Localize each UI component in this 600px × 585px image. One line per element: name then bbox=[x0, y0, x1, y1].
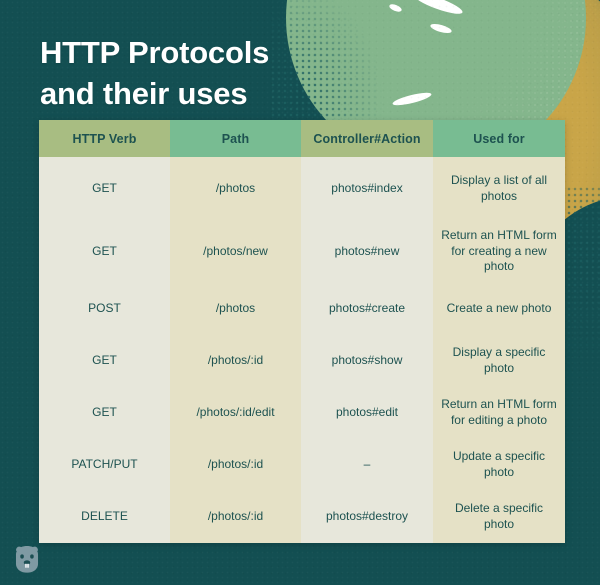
table-row: DELETE /photos/:id photos#destroy Delete… bbox=[39, 491, 565, 543]
cell-action: – bbox=[301, 439, 433, 491]
cell-action: photos#edit bbox=[301, 387, 433, 439]
cell-action: photos#show bbox=[301, 335, 433, 387]
table-row: GET /photos/new photos#new Return an HTM… bbox=[39, 220, 565, 283]
table-row: GET /photos/:id photos#show Display a sp… bbox=[39, 335, 565, 387]
cell-used-for: Update a specific photo bbox=[433, 439, 565, 491]
table-row: POST /photos photos#create Create a new … bbox=[39, 283, 565, 335]
column-header-path: Path bbox=[170, 120, 301, 157]
cell-verb: PATCH/PUT bbox=[39, 439, 170, 491]
cell-action: photos#create bbox=[301, 283, 433, 335]
cell-verb: POST bbox=[39, 283, 170, 335]
cell-used-for: Display a list of all photos bbox=[433, 157, 565, 220]
page-title: HTTP Protocols and their uses bbox=[40, 32, 269, 114]
cell-path: /photos/:id/edit bbox=[170, 387, 301, 439]
cell-verb: GET bbox=[39, 335, 170, 387]
table-body: GET /photos photos#index Display a list … bbox=[39, 157, 565, 543]
cell-path: /photos/:id bbox=[170, 335, 301, 387]
beaver-logo bbox=[8, 541, 46, 579]
cell-used-for: Create a new photo bbox=[433, 283, 565, 335]
table-header: HTTP Verb Path Controller#Action Used fo… bbox=[39, 120, 565, 157]
cell-action: photos#new bbox=[301, 220, 433, 283]
cell-used-for: Display a specific photo bbox=[433, 335, 565, 387]
column-header-used-for: Used for bbox=[433, 120, 565, 157]
poster-canvas: HTTP Protocols and their uses HTTP Verb … bbox=[0, 0, 600, 585]
cell-used-for: Return an HTML form for editing a photo bbox=[433, 387, 565, 439]
cell-path: /photos bbox=[170, 283, 301, 335]
http-verbs-table-container: HTTP Verb Path Controller#Action Used fo… bbox=[39, 120, 565, 543]
table-row: GET /photos/:id/edit photos#edit Return … bbox=[39, 387, 565, 439]
column-header-controller-action: Controller#Action bbox=[301, 120, 433, 157]
cell-used-for: Delete a specific photo bbox=[433, 491, 565, 543]
cell-verb: GET bbox=[39, 157, 170, 220]
cell-action: photos#index bbox=[301, 157, 433, 220]
cell-verb: GET bbox=[39, 220, 170, 283]
cell-path: /photos/new bbox=[170, 220, 301, 283]
table-row: GET /photos photos#index Display a list … bbox=[39, 157, 565, 220]
cell-action: photos#destroy bbox=[301, 491, 433, 543]
cell-used-for: Return an HTML form for creating a new p… bbox=[433, 220, 565, 283]
http-verbs-table: HTTP Verb Path Controller#Action Used fo… bbox=[39, 120, 565, 543]
cell-path: /photos/:id bbox=[170, 439, 301, 491]
cell-path: /photos bbox=[170, 157, 301, 220]
column-header-http-verb: HTTP Verb bbox=[39, 120, 170, 157]
cell-verb: DELETE bbox=[39, 491, 170, 543]
table-header-row: HTTP Verb Path Controller#Action Used fo… bbox=[39, 120, 565, 157]
cell-verb: GET bbox=[39, 387, 170, 439]
cell-path: /photos/:id bbox=[170, 491, 301, 543]
table-row: PATCH/PUT /photos/:id – Update a specifi… bbox=[39, 439, 565, 491]
